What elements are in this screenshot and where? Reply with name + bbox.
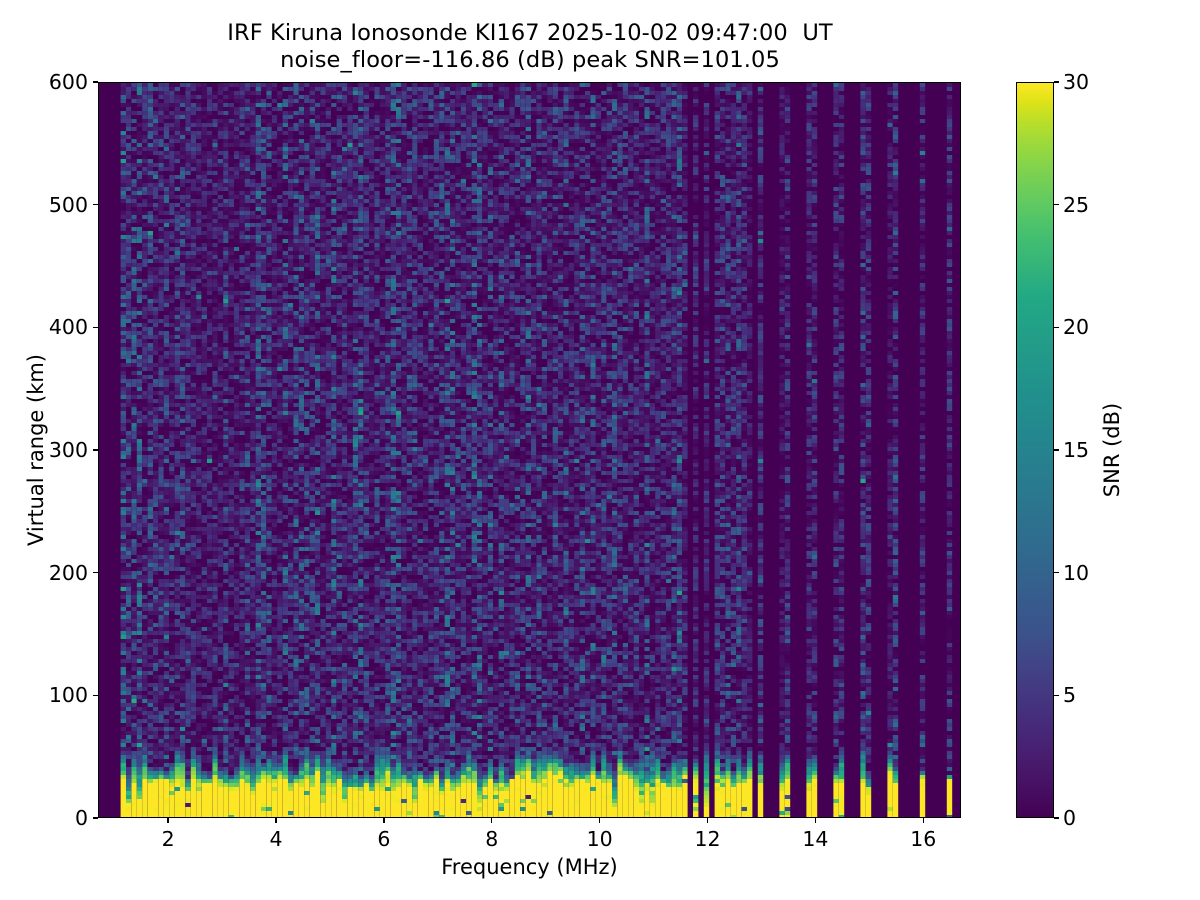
colorbar-tick-label: 30 — [1063, 70, 1089, 94]
x-tick-mark — [707, 818, 708, 823]
title-line-2: noise_floor=-116.86 (dB) peak SNR=101.05 — [0, 47, 1060, 74]
ionogram-heatmap-canvas — [99, 83, 961, 818]
y-tick-mark — [93, 817, 98, 818]
colorbar-tick-label: 10 — [1063, 561, 1089, 585]
x-tick-label: 16 — [910, 827, 936, 851]
y-tick-label: 100 — [0, 683, 88, 707]
colorbar-tick-label: 20 — [1063, 315, 1089, 339]
y-tick-label: 500 — [0, 193, 88, 217]
x-tick-mark — [167, 818, 168, 823]
y-tick-mark — [93, 327, 98, 328]
colorbar-label: SNR (dB) — [1100, 300, 1124, 600]
title-line-1: IRF Kiruna Ionosonde KI167 2025-10-02 09… — [0, 20, 1060, 47]
x-tick-label: 4 — [269, 827, 282, 851]
x-tick-mark — [815, 818, 816, 823]
x-tick-label: 12 — [694, 827, 720, 851]
y-tick-mark — [93, 695, 98, 696]
colorbar-tick-mark — [1054, 695, 1059, 696]
y-axis-label: Virtual range (km) — [24, 300, 48, 600]
colorbar-tick-label: 5 — [1063, 683, 1076, 707]
y-tick-mark — [93, 572, 98, 573]
colorbar-tick-mark — [1054, 204, 1059, 205]
colorbar-tick-label: 15 — [1063, 438, 1089, 462]
x-tick-mark — [275, 818, 276, 823]
y-tick-mark — [93, 449, 98, 450]
colorbar-tick-mark — [1054, 449, 1059, 450]
figure-title: IRF Kiruna Ionosonde KI167 2025-10-02 09… — [0, 20, 1060, 75]
x-tick-mark — [599, 818, 600, 823]
x-tick-mark — [923, 818, 924, 823]
ionogram-plot-area — [98, 82, 961, 818]
colorbar-tick-mark — [1054, 327, 1059, 328]
snr-colorbar — [1016, 82, 1054, 818]
x-tick-label: 6 — [377, 827, 390, 851]
colorbar-tick-mark — [1054, 81, 1059, 82]
colorbar-tick-mark — [1054, 572, 1059, 573]
x-tick-label: 10 — [587, 827, 613, 851]
x-tick-mark — [491, 818, 492, 823]
x-tick-mark — [383, 818, 384, 823]
x-tick-label: 8 — [485, 827, 498, 851]
y-tick-mark — [93, 204, 98, 205]
ionogram-figure: IRF Kiruna Ionosonde KI167 2025-10-02 09… — [0, 0, 1200, 900]
x-tick-label: 2 — [162, 827, 175, 851]
colorbar-tick-mark — [1054, 817, 1059, 818]
colorbar-tick-label: 0 — [1063, 806, 1076, 830]
x-axis-label: Frequency (MHz) — [98, 855, 961, 879]
y-tick-mark — [93, 81, 98, 82]
x-tick-label: 14 — [802, 827, 828, 851]
colorbar-tick-label: 25 — [1063, 193, 1089, 217]
y-tick-label: 0 — [0, 806, 88, 830]
y-tick-label: 600 — [0, 70, 88, 94]
